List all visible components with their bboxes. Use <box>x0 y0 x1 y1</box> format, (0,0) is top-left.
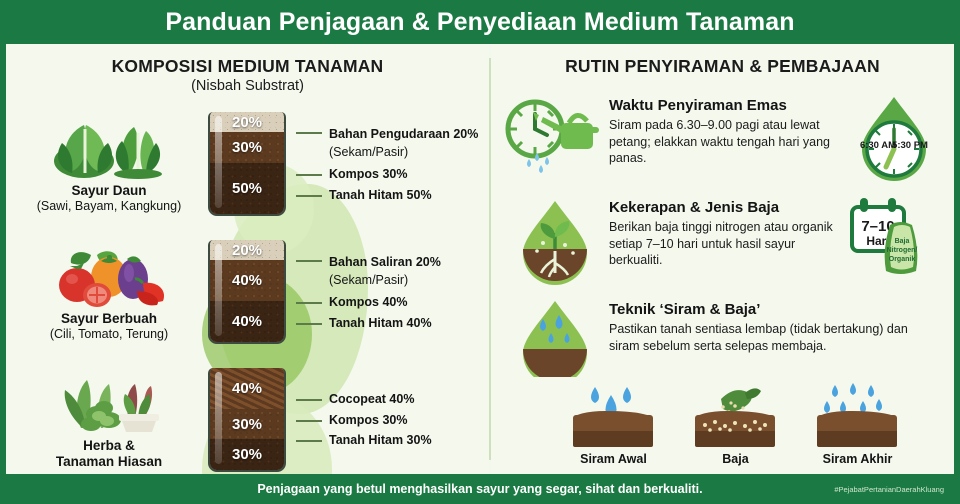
layer-value: 20% <box>210 240 284 260</box>
legend-label: Bahan Pengudaraan 20% <box>329 127 478 141</box>
plant-category: Sayur Daun (Sawi, Bayam, Kangkung) <box>14 115 204 213</box>
infographic-poster: Panduan Penjagaan & Penyediaan Medium Ta… <box>0 0 960 504</box>
header-bar: Panduan Penjagaan & Penyediaan Medium Ta… <box>0 0 960 44</box>
medium-beaker: 40% 30% 30% <box>208 368 286 472</box>
watering-steps: Siram Awal <box>491 377 954 466</box>
legend-list: Cocopeat 40% Kompos 30% Tanah Hitam 30% <box>290 386 489 454</box>
beaker-container: 20% 30% 50% <box>204 112 290 216</box>
legend-item: Kompos 30% <box>296 413 489 428</box>
beaker-container: 40% 30% 30% <box>204 368 290 472</box>
page-title: Panduan Penjagaan & Penyediaan Medium Ta… <box>165 8 794 37</box>
fertilizer-badges: 7–10 Hari Baja Nitrogen/ Organik <box>846 195 942 287</box>
seedling-roots-icon <box>501 195 609 289</box>
leader-line-icon <box>296 399 322 401</box>
routine-title: Teknik ‘Siram & Baja’ <box>609 301 938 318</box>
droplet-soil-icon <box>501 297 609 377</box>
fruiting-vegetables-icon <box>47 243 171 307</box>
leader-line-icon <box>296 195 322 197</box>
composition-row: Sayur Berbuah (Cili, Tomato, Terung) 20%… <box>6 228 489 356</box>
soil-block <box>817 415 897 447</box>
plant-name: Sayur Berbuah <box>61 311 157 327</box>
layer-value: 40% <box>210 260 284 301</box>
legend-label: Tanah Hitam 40% <box>329 316 432 331</box>
footer-message: Penjagaan yang betul menghasilkan sayur … <box>257 482 702 496</box>
herbs-ornamental-icon <box>47 370 171 434</box>
step-label: Baja <box>722 452 748 466</box>
leafy-greens-icon <box>50 115 168 179</box>
legend-item: Bahan Pengudaraan 20% (Sekam/Pasir) <box>296 125 489 161</box>
leader-line-icon <box>296 302 322 304</box>
content-area: KOMPOSISI MEDIUM TANAMAN (Nisbah Substra… <box>6 44 954 474</box>
routine-title: Waktu Penyiraman Emas <box>609 97 842 114</box>
fertilizer-sack-icon: Baja Nitrogen/ Organik <box>885 222 918 274</box>
right-column: RUTIN PENYIRAMAN & PEMBAJAAN <box>491 44 954 474</box>
legend-sublabel: (Sekam/Pasir) <box>329 145 408 159</box>
leader-line-icon <box>296 440 322 442</box>
plant-category: Herba & Tanaman Hiasan <box>14 370 204 469</box>
step-item: Siram Akhir <box>809 381 905 466</box>
routine-description: Siram pada 6.30–9.00 pagi atau lewat pet… <box>609 117 842 167</box>
clock-watering-can-icon <box>501 93 609 179</box>
badge-evening-time: 5:30 PM <box>892 140 928 151</box>
plant-species: (Sawi, Bayam, Kangkung) <box>37 199 182 213</box>
routine-text: Kekerapan & Jenis Baja Berikan baja ting… <box>609 195 846 269</box>
composition-rows: Sayur Daun (Sawi, Bayam, Kangkung) 20% 3… <box>6 100 489 474</box>
legend-item: Tanah Hitam 30% <box>296 433 489 448</box>
leader-line-icon <box>296 420 322 422</box>
legend-item: Kompos 40% <box>296 295 489 310</box>
legend-item: Cocopeat 40% <box>296 392 489 407</box>
legend-list: Bahan Saliran 20% (Sekam/Pasir) Kompos 4… <box>290 247 489 337</box>
layer-value: 50% <box>210 163 284 214</box>
step-label: Siram Awal <box>580 452 647 466</box>
step-item: Siram Awal <box>565 381 661 466</box>
water-drops-icon <box>565 381 661 447</box>
routine-text: Waktu Penyiraman Emas Siram pada 6.30–9.… <box>609 93 846 167</box>
svg-text:Organik: Organik <box>889 256 916 263</box>
routine-title: Kekerapan & Jenis Baja <box>609 199 842 216</box>
plant-category: Sayur Berbuah (Cili, Tomato, Terung) <box>14 243 204 341</box>
routine-section: Teknik ‘Siram & Baja’ Pastikan tanah sen… <box>491 291 954 377</box>
leader-line-icon <box>296 174 322 176</box>
step-label: Siram Akhir <box>823 452 893 466</box>
composition-row: Herba & Tanaman Hiasan 40% 30% 30% <box>6 356 489 474</box>
legend-label: Bahan Saliran 20% <box>329 255 441 269</box>
leader-line-icon <box>296 323 322 325</box>
legend-item: Kompos 30% <box>296 167 489 182</box>
footer-bar: Penjagaan yang betul menghasilkan sayur … <box>0 474 960 504</box>
left-column: KOMPOSISI MEDIUM TANAMAN (Nisbah Substra… <box>6 44 489 474</box>
left-column-subtitle: (Nisbah Substrat) <box>6 78 489 94</box>
routine-section: Waktu Penyiraman Emas Siram pada 6.30–9.… <box>491 87 954 185</box>
leader-line-icon <box>296 132 322 134</box>
leader-line-icon <box>296 260 322 262</box>
legend-label: Cocopeat 40% <box>329 392 414 407</box>
plant-species: (Cili, Tomato, Terung) <box>50 327 168 341</box>
plant-name: Herba & Tanaman Hiasan <box>56 438 162 469</box>
beaker-container: 20% 40% 40% <box>204 240 290 344</box>
fertilizer-scoop-icon <box>687 381 783 447</box>
left-column-title: KOMPOSISI MEDIUM TANAMAN <box>6 44 489 77</box>
legend-label: Kompos 40% <box>329 295 408 310</box>
legend-item: Tanah Hitam 40% <box>296 316 489 331</box>
routine-text: Teknik ‘Siram & Baja’ Pastikan tanah sen… <box>609 297 942 354</box>
layer-value: 20% <box>210 112 284 132</box>
plant-name: Sayur Daun <box>71 183 146 199</box>
legend-list: Bahan Pengudaraan 20% (Sekam/Pasir) Komp… <box>290 119 489 209</box>
layer-value: 30% <box>210 132 284 163</box>
legend-label: Tanah Hitam 50% <box>329 188 432 203</box>
layer-value: 40% <box>210 301 284 342</box>
legend-label: Tanah Hitam 30% <box>329 433 432 448</box>
composition-row: Sayur Daun (Sawi, Bayam, Kangkung) 20% 3… <box>6 100 489 228</box>
routine-description: Pastikan tanah sentiasa lembap (tidak be… <box>609 321 938 354</box>
droplet-clock-icon: 6:30 AM 5:30 PM <box>846 93 942 185</box>
routine-description: Berikan baja tinggi nitrogen atau organi… <box>609 219 842 269</box>
step-item: Baja <box>687 381 783 466</box>
badge-morning-time: 6:30 AM <box>860 140 896 151</box>
legend-item: Bahan Saliran 20% (Sekam/Pasir) <box>296 253 489 289</box>
legend-sublabel: (Sekam/Pasir) <box>329 273 408 287</box>
layer-value: 30% <box>210 439 284 470</box>
medium-beaker: 20% 30% 50% <box>208 112 286 216</box>
rain-drops-icon <box>809 381 905 447</box>
legend-label: Kompos 30% <box>329 167 408 182</box>
soil-block <box>573 415 653 447</box>
legend-label: Kompos 30% <box>329 413 408 428</box>
legend-item: Tanah Hitam 50% <box>296 188 489 203</box>
svg-text:Nitrogen/: Nitrogen/ <box>887 247 918 254</box>
layer-value: 40% <box>210 368 284 409</box>
footer-hashtag: #PejabatPertanianDaerahKluang <box>834 485 944 494</box>
right-column-title: RUTIN PENYIRAMAN & PEMBAJAAN <box>491 44 954 77</box>
soil-block <box>695 415 775 447</box>
medium-beaker: 20% 40% 40% <box>208 240 286 344</box>
layer-value: 30% <box>210 409 284 440</box>
svg-text:Baja: Baja <box>895 238 910 245</box>
routine-section: Kekerapan & Jenis Baja Berikan baja ting… <box>491 189 954 289</box>
